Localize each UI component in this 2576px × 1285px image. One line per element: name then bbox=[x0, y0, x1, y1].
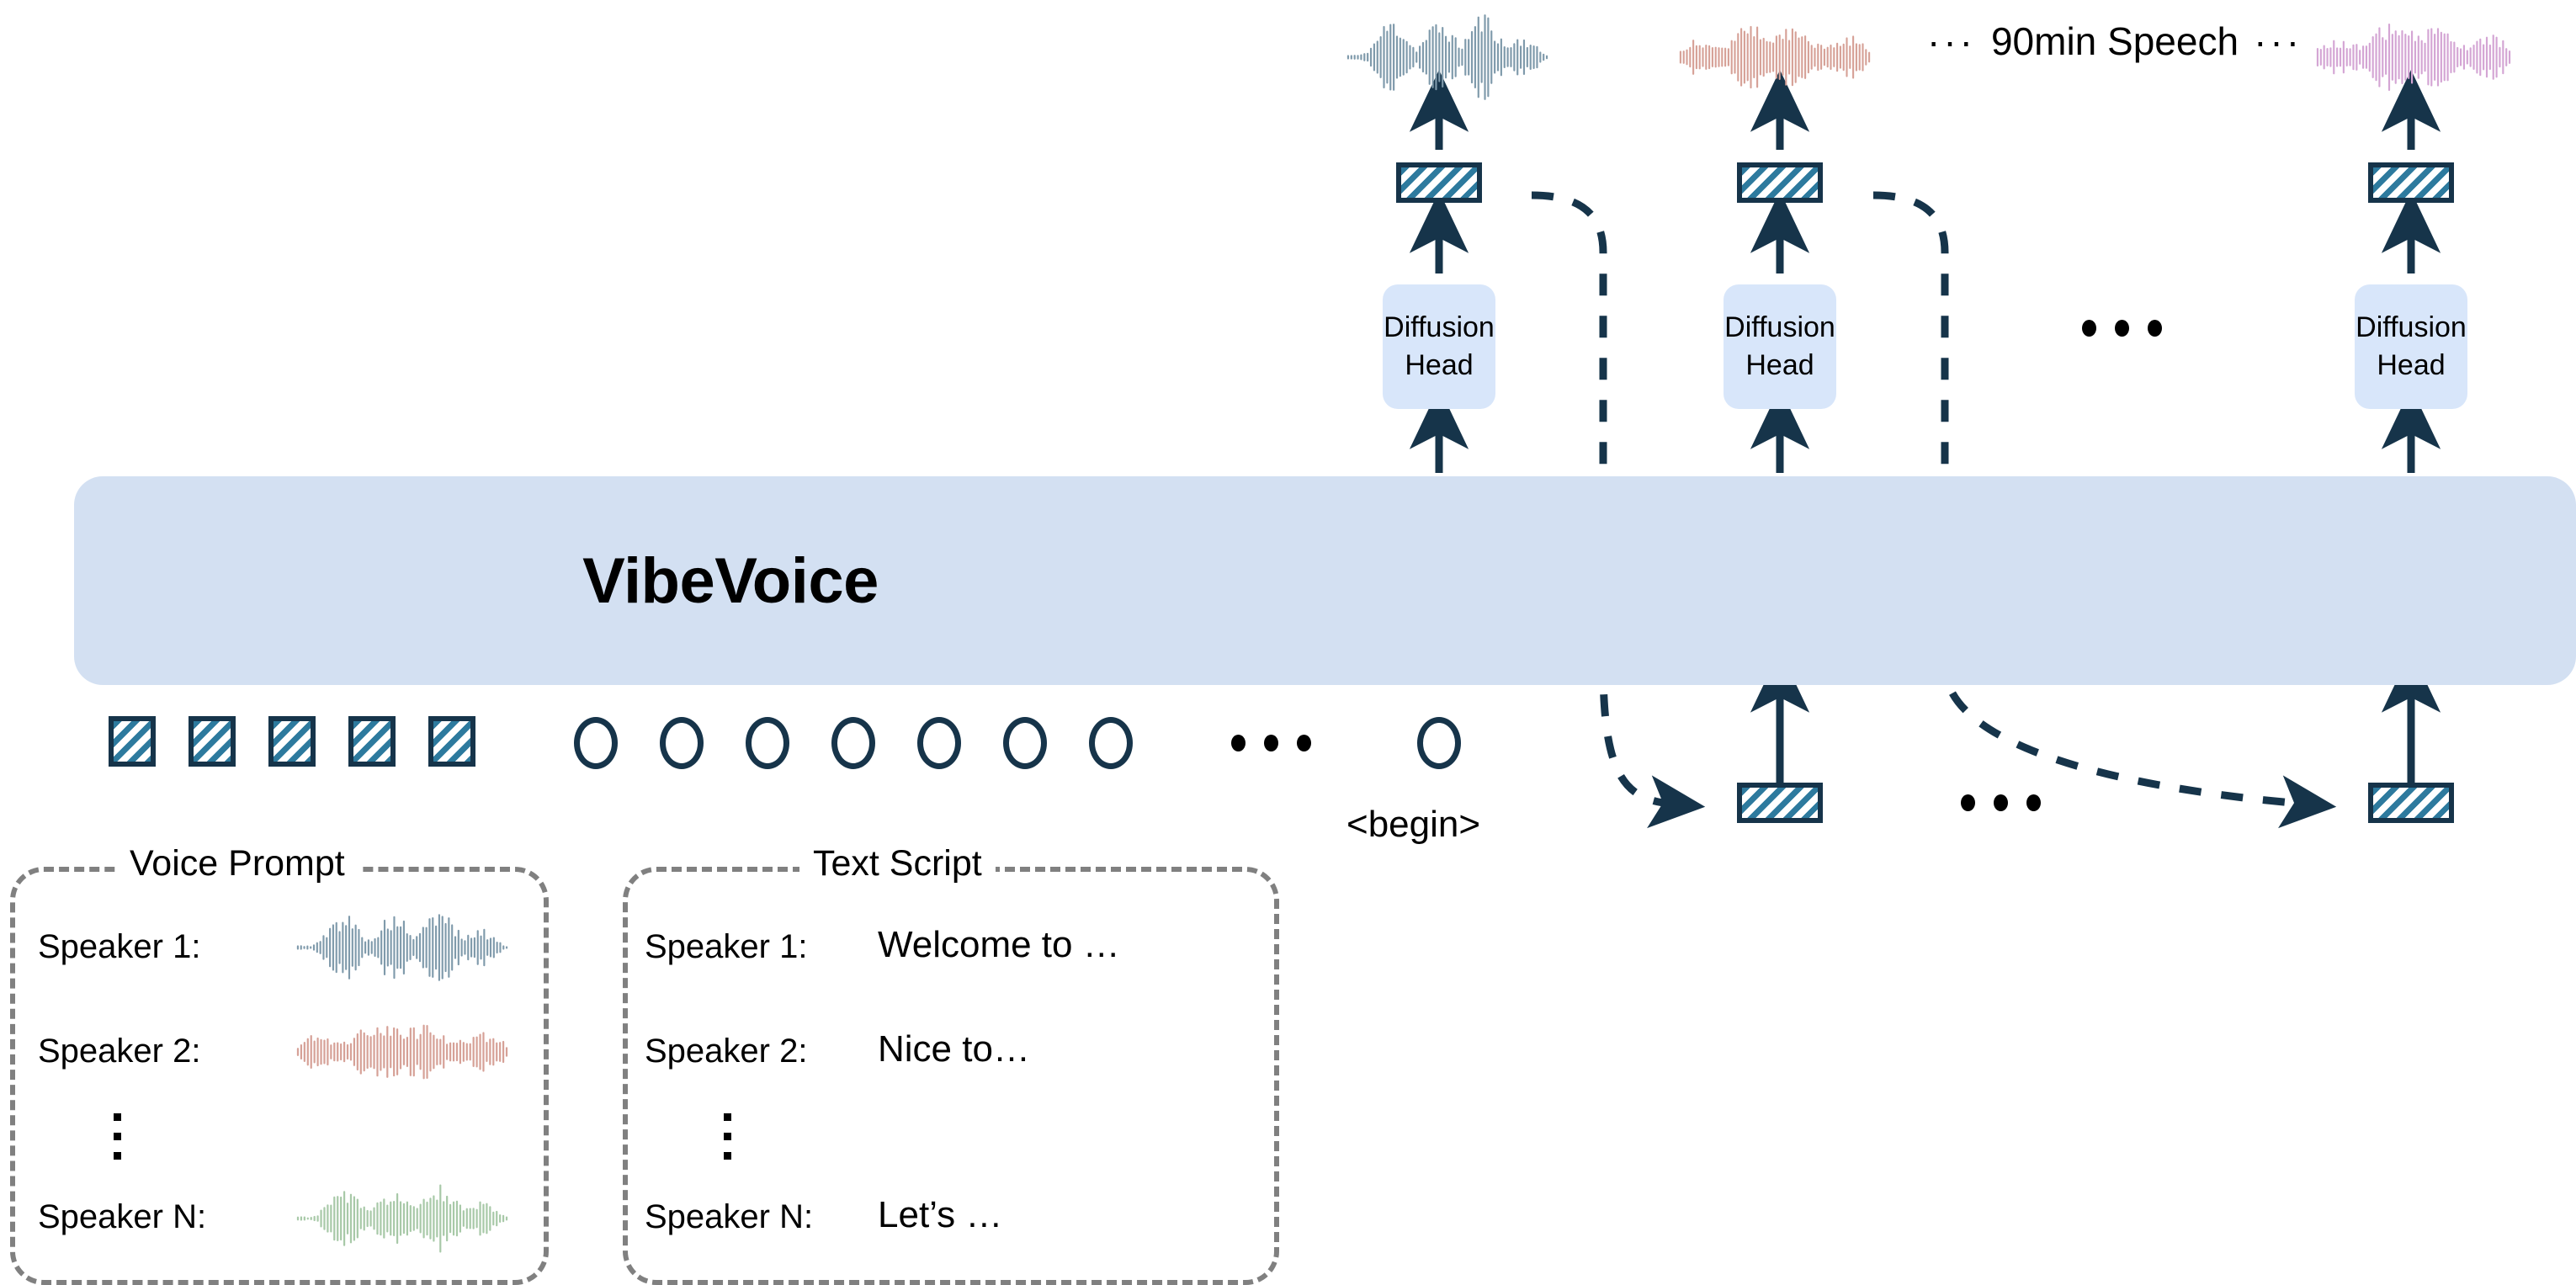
voice-prompt-vertical-ellipsis bbox=[114, 1113, 121, 1160]
voice-prompt-speaker-label-3: Speaker N: bbox=[38, 1198, 206, 1236]
text-script-speaker-label-2: Speaker 2: bbox=[645, 1033, 807, 1070]
speech-duration-caption: ··· 90min Speech ··· bbox=[1927, 19, 2302, 64]
text-token-5 bbox=[917, 717, 961, 769]
text-script-title: Text Script bbox=[799, 843, 996, 884]
text-token-1 bbox=[574, 717, 618, 769]
voice-prompt-token-5 bbox=[428, 716, 475, 767]
caption-leading-dots: ··· bbox=[1927, 19, 1976, 64]
text-script-line-3: Let’s … bbox=[878, 1194, 1002, 1236]
text-script-vertical-ellipsis bbox=[724, 1113, 731, 1160]
text-script-line-1: Welcome to … bbox=[878, 924, 1120, 966]
diffusion-head-label-line1: Diffusion bbox=[2356, 309, 2467, 347]
voice-prompt-token-3 bbox=[268, 716, 316, 767]
diffusion-head-label-line2: Head bbox=[2377, 347, 2445, 385]
diffusion-head-ellipsis bbox=[2082, 320, 2162, 337]
acoustic-token-output-1 bbox=[1396, 162, 1482, 203]
diffusion-head-label-line2: Head bbox=[1405, 347, 1473, 385]
text-token-3 bbox=[746, 717, 789, 769]
begin-token-circle bbox=[1417, 717, 1461, 769]
output-waveform-2 bbox=[1680, 26, 1870, 88]
text-token-ellipsis bbox=[1231, 735, 1311, 751]
latent-patch-input-1 bbox=[1737, 783, 1823, 823]
text-script-speaker-label-1: Speaker 1: bbox=[645, 928, 807, 966]
begin-token-label: <begin> bbox=[1346, 804, 1480, 846]
text-token-4 bbox=[831, 717, 875, 769]
voice-prompt-token-2 bbox=[189, 716, 236, 767]
acoustic-token-output-3 bbox=[2368, 162, 2454, 203]
diffusion-head-2[interactable]: Diffusion Head bbox=[1724, 284, 1836, 409]
caption-text: 90min Speech bbox=[1991, 19, 2239, 64]
voice-prompt-speaker-label-1: Speaker 1: bbox=[38, 928, 200, 966]
text-script-speaker-label-3: Speaker N: bbox=[645, 1198, 813, 1236]
voice-prompt-token-4 bbox=[348, 716, 396, 767]
caption-trailing-dots: ··· bbox=[2254, 19, 2302, 64]
voice-prompt-token-1 bbox=[109, 716, 156, 767]
voice-prompt-speaker-label-2: Speaker 2: bbox=[38, 1033, 200, 1070]
latent-patch-ellipsis bbox=[1961, 794, 2041, 811]
text-token-7 bbox=[1089, 717, 1133, 769]
output-waveform-3 bbox=[2317, 24, 2510, 91]
diffusion-head-label-line1: Diffusion bbox=[1384, 309, 1495, 347]
text-script-line-2: Nice to… bbox=[878, 1028, 1030, 1070]
diffusion-head-3[interactable]: Diffusion Head bbox=[2355, 284, 2467, 409]
diffusion-head-label-line1: Diffusion bbox=[1724, 309, 1835, 347]
text-token-6 bbox=[1003, 717, 1047, 769]
architecture-diagram: ··· 90min Speech ··· Diffusion Head Diff… bbox=[0, 0, 2576, 1285]
acoustic-token-output-2 bbox=[1737, 162, 1823, 203]
diffusion-head-1[interactable]: Diffusion Head bbox=[1383, 284, 1495, 409]
vibevoice-model-block[interactable]: VibeVoice bbox=[74, 476, 2576, 685]
vibevoice-model-title: VibeVoice bbox=[74, 476, 1387, 685]
latent-patch-input-2 bbox=[2368, 783, 2454, 823]
text-token-2 bbox=[660, 717, 704, 769]
output-waveform-1 bbox=[1347, 14, 1548, 100]
diffusion-head-label-line2: Head bbox=[1745, 347, 1814, 385]
voice-prompt-title: Voice Prompt bbox=[116, 843, 359, 884]
